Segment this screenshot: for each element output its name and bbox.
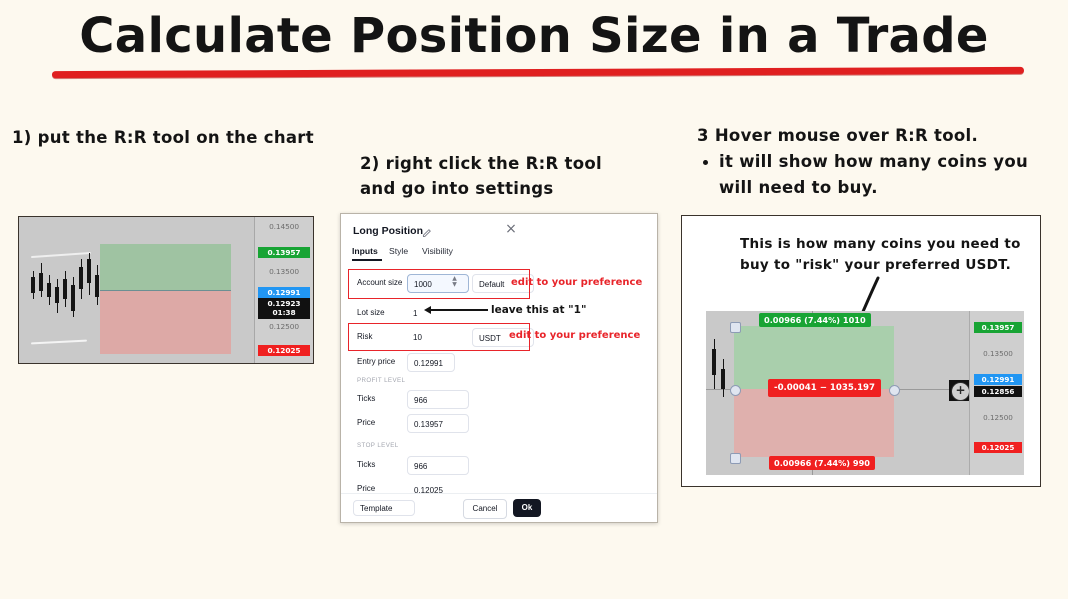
step-2-line-2: and go into settings — [360, 176, 602, 201]
profit-price-label: Price — [357, 418, 375, 427]
chart1-price-axis[interactable]: 0.14500 0.13957 0.13500 0.12991 0.12923 … — [254, 217, 313, 363]
step-3-bullet-line-2: will need to buy. — [697, 175, 1028, 201]
risk-highlight-box — [348, 323, 530, 351]
price-label-current: 0.12856 — [974, 386, 1022, 397]
stop-price-label: Price — [357, 484, 375, 493]
resize-handle-right[interactable] — [889, 385, 900, 396]
title-underline — [52, 67, 1024, 78]
stop-level-section-label: STOP LEVEL — [357, 442, 399, 449]
cancel-button[interactable]: Cancel — [463, 499, 507, 519]
price-label-take-profit: 0.13957 — [258, 247, 310, 258]
chart3-price-axis[interactable]: 0.13957 0.13500 0.12991 0.12856 0.12500 … — [969, 311, 1024, 475]
tab-inputs[interactable]: Inputs — [352, 246, 378, 256]
rr-tool-profit-zone[interactable] — [100, 244, 231, 291]
row-profit-ticks: Ticks 966 — [352, 388, 646, 412]
candle-body — [71, 285, 75, 311]
step-3-bullet-line-1: it will show how many coins you — [697, 149, 1028, 175]
resize-handle-bottom[interactable] — [730, 453, 741, 464]
resize-handle-entry[interactable] — [730, 385, 741, 396]
slide-root: Calculate Position Size in a Trade 1) pu… — [0, 0, 1068, 599]
lot-size-value[interactable]: 1 — [413, 309, 417, 318]
step-3-heading: 3 Hover mouse over R:R tool. it will sho… — [697, 123, 1028, 201]
account-size-annotation: edit to your preference — [511, 277, 642, 288]
price-label: 0.12500 — [974, 412, 1022, 423]
account-size-highlight-box — [348, 269, 530, 299]
resize-handle-top[interactable] — [730, 322, 741, 333]
plus-icon[interactable]: + — [951, 382, 970, 401]
profit-price-input[interactable]: 0.13957 — [407, 414, 469, 433]
stop-ticks-input[interactable]: 966 — [407, 456, 469, 475]
price-label: 0.14500 — [258, 221, 310, 232]
step-2-line-1: 2) right click the R:R tool — [360, 151, 602, 176]
tooltip-position-size-label: -0.00041 − 1035.197 — [768, 379, 881, 397]
current-price-value: 0.12923 — [258, 299, 310, 308]
tab-visibility[interactable]: Visibility — [422, 246, 453, 256]
step-2-heading: 2) right click the R:R tool and go into … — [360, 151, 602, 201]
pencil-icon[interactable] — [421, 224, 432, 235]
price-label-stop-loss: 0.12025 — [258, 345, 310, 356]
candle-body — [79, 267, 83, 289]
price-label-stop-loss: 0.12025 — [974, 442, 1022, 453]
note-line-2: buy to "risk" your preferred USDT. — [740, 255, 1040, 276]
close-icon[interactable]: × — [504, 222, 518, 236]
chart1-lower-line — [31, 340, 87, 345]
price-label-entry: 0.12991 — [974, 374, 1022, 385]
row-entry-price: Entry price 0.12991 — [352, 351, 646, 375]
dialog-footer: Template Cancel Ok — [341, 493, 657, 522]
rr-tool-stop-zone[interactable] — [734, 389, 894, 457]
candle-body — [87, 259, 91, 283]
stop-ticks-label: Ticks — [357, 460, 375, 469]
entry-price-label: Entry price — [357, 357, 395, 366]
chart1-upper-line — [31, 252, 91, 258]
lot-size-arrow-line — [430, 309, 488, 311]
long-position-settings-dialog: Long Position × Inputs Style Visibility … — [340, 213, 658, 523]
active-tab-underline — [352, 259, 382, 261]
price-label-current: 0.12923 01:38 — [258, 298, 310, 319]
step-1-heading: 1) put the R:R tool on the chart — [12, 128, 314, 147]
candle-body — [31, 277, 35, 293]
risk-annotation: edit to your preference — [509, 330, 640, 341]
dialog-tabs: Inputs Style Visibility — [352, 246, 532, 264]
countdown-value: 01:38 — [258, 308, 310, 317]
rr-tool-stop-zone[interactable] — [100, 291, 231, 354]
step-3-line-1: 3 Hover mouse over R:R tool. — [697, 123, 1028, 149]
candle-body — [95, 275, 99, 297]
entry-price-input[interactable]: 0.12991 — [407, 353, 455, 372]
profit-ticks-input[interactable]: 966 — [407, 390, 469, 409]
price-label-take-profit: 0.13957 — [974, 322, 1022, 333]
row-stop-ticks: Ticks 966 — [352, 454, 646, 478]
candle-body — [712, 349, 716, 375]
ok-button[interactable]: Ok — [513, 499, 541, 517]
price-label: 0.13500 — [974, 348, 1022, 359]
tooltip-stop-label: 0.00966 (7.44%) 990 — [769, 456, 875, 470]
tab-style[interactable]: Style — [389, 246, 408, 256]
candle-body — [55, 287, 59, 303]
dialog-title: Long Position — [353, 225, 423, 237]
candle-body — [39, 273, 43, 291]
chart-screenshot-3: This is how many coins you need to buy t… — [681, 215, 1041, 487]
profit-ticks-label: Ticks — [357, 394, 375, 403]
row-profit-price: Price 0.13957 — [352, 412, 646, 436]
page-title: Calculate Position Size in a Trade — [0, 8, 1068, 64]
tooltip-profit-label: 0.00966 (7.44%) 1010 — [759, 313, 871, 327]
note-line-1: This is how many coins you need to — [740, 234, 1040, 255]
candle-body — [63, 279, 67, 299]
chart-screenshot-1: 0.14500 0.13957 0.13500 0.12991 0.12923 … — [18, 216, 314, 364]
chart1-plot-area — [19, 217, 255, 363]
price-label-entry: 0.12991 — [258, 287, 310, 298]
profit-level-section-label: PROFIT LEVEL — [357, 377, 405, 384]
candle-body — [721, 369, 725, 389]
lot-size-annotation: leave this at "1" — [491, 304, 586, 316]
candle-body — [47, 283, 51, 297]
tooltip-explanation-note: This is how many coins you need to buy t… — [740, 234, 1040, 276]
chart3-plot: 0.00966 (7.44%) 1010 -0.00041 − 1035.197… — [706, 311, 1024, 475]
lot-size-label: Lot size — [357, 308, 385, 317]
template-select[interactable]: Template — [353, 500, 415, 516]
price-label: 0.13500 — [258, 266, 310, 277]
price-label: 0.12500 — [258, 321, 310, 332]
